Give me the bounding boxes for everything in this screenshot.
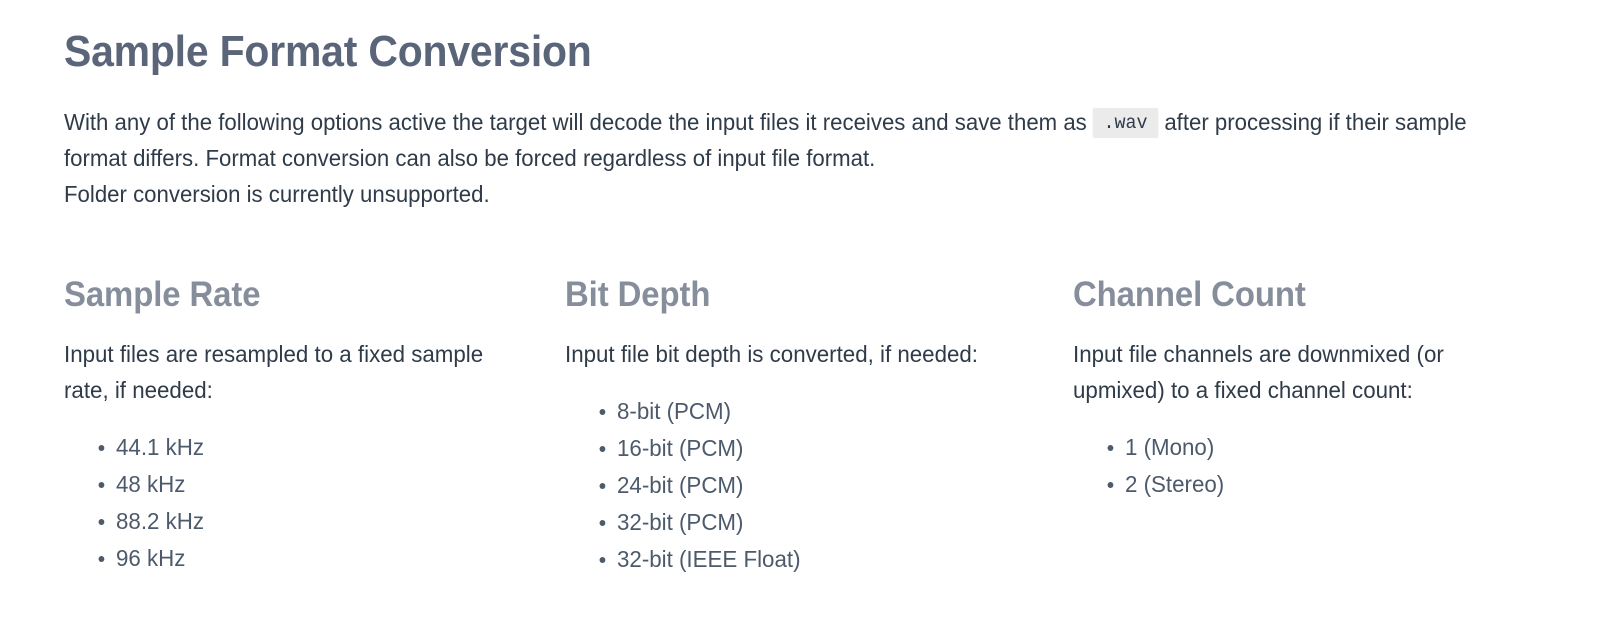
list-item: 1 (Mono) <box>1125 429 1539 466</box>
section-bit-depth: Bit Depth Input file bit depth is conver… <box>565 274 1068 578</box>
section-description-sample-rate: Input files are resampled to a fixed sam… <box>64 316 510 408</box>
list-item: 44.1 kHz <box>116 429 551 466</box>
list-item: 32-bit (PCM) <box>617 504 1054 541</box>
intro-text-part1: With any of the following options active… <box>64 109 1087 135</box>
section-heading-sample-rate: Sample Rate <box>64 274 535 316</box>
section-sample-rate: Sample Rate Input files are resampled to… <box>64 274 565 577</box>
list-item: 88.2 kHz <box>116 503 551 540</box>
documentation-page: Sample Format Conversion With any of the… <box>0 0 1616 636</box>
list-item: 48 kHz <box>116 466 551 503</box>
section-heading-channel-count: Channel Count <box>1073 274 1523 316</box>
list-item: 2 (Stereo) <box>1125 466 1539 503</box>
list-item: 8-bit (PCM) <box>617 393 1054 430</box>
list-item: 24-bit (PCM) <box>617 467 1054 504</box>
bit-depth-list: 8-bit (PCM) 16-bit (PCM) 24-bit (PCM) 32… <box>565 372 1068 578</box>
list-item: 96 kHz <box>116 540 551 577</box>
intro-paragraph: With any of the following options active… <box>64 78 1500 212</box>
conversion-options-columns: Sample Rate Input files are resampled to… <box>64 212 1552 578</box>
section-description-channel-count: Input file channels are downmixed (or up… <box>1073 316 1461 408</box>
section-heading-bit-depth: Bit Depth <box>565 274 1037 316</box>
section-description-bit-depth: Input file bit depth is converted, if ne… <box>565 316 1021 372</box>
intro-text-line2: Folder conversion is currently unsupport… <box>64 176 1500 212</box>
page-title: Sample Format Conversion <box>64 0 1448 78</box>
wav-extension-code: .wav <box>1093 108 1158 138</box>
sample-rate-list: 44.1 kHz 48 kHz 88.2 kHz 96 kHz <box>64 408 565 577</box>
section-channel-count: Channel Count Input file channels are do… <box>1067 274 1552 503</box>
list-item: 16-bit (PCM) <box>617 430 1054 467</box>
list-item: 32-bit (IEEE Float) <box>617 541 1054 578</box>
channel-count-list: 1 (Mono) 2 (Stereo) <box>1073 408 1552 503</box>
